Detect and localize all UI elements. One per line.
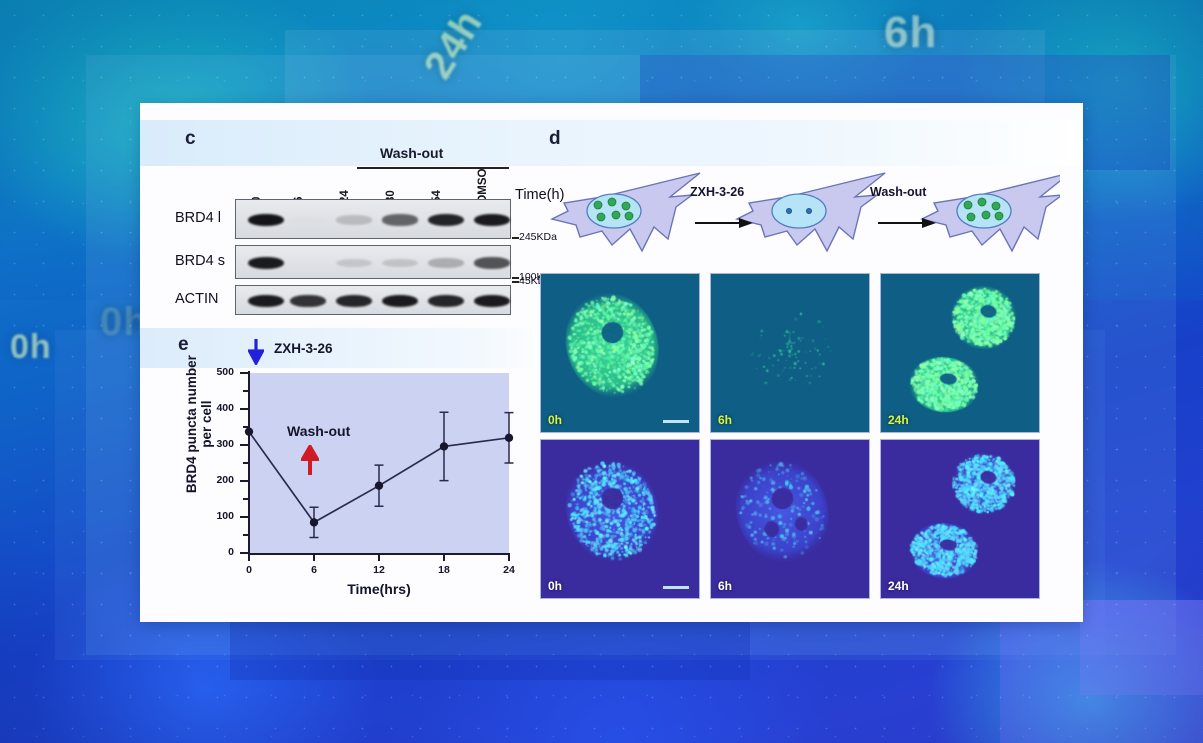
chart-x-tick-12 xyxy=(378,553,380,561)
schematic-cell-treated xyxy=(737,173,885,251)
mw-tick-1 xyxy=(512,277,519,279)
brd4-punctum xyxy=(597,213,605,221)
chart-x-tick-0 xyxy=(248,553,250,561)
mw-tick-2 xyxy=(512,281,519,283)
chart-x-tick-6 xyxy=(313,553,315,561)
blot-row-label-1: BRD4 s xyxy=(175,253,225,269)
brd4-punctum xyxy=(786,208,791,213)
blot-band xyxy=(290,295,326,307)
panel-d-microscopy: ZXH-3-26 Wash-out 0h6h24h0h6h24h xyxy=(540,133,1060,603)
blot-band xyxy=(290,216,326,223)
micrograph-image xyxy=(711,440,869,598)
figure-card: c d e Wash-out 06243054DMSO Time(h) BRD4… xyxy=(140,103,1083,622)
blot-band xyxy=(428,214,464,227)
micrograph-timepoint-label: 6h xyxy=(718,579,732,593)
blot-band xyxy=(474,214,510,227)
brd4-punctum xyxy=(608,198,616,206)
micrograph-timepoint-label: 24h xyxy=(888,579,909,593)
blot-box-0 xyxy=(235,199,511,239)
chart-x-tick-label-6: 6 xyxy=(299,564,329,576)
chart-y-tick-400 xyxy=(240,408,248,410)
chart-x-tick-24 xyxy=(508,553,510,561)
chart-plot-area xyxy=(249,373,509,553)
micrograph-green-24h: 24h xyxy=(880,273,1040,433)
brd4-punctum xyxy=(964,201,972,209)
washout-arrow-icon xyxy=(301,445,319,475)
mw-tick-0 xyxy=(512,237,519,239)
blot-band xyxy=(428,258,464,268)
micrograph-timepoint-label: 0h xyxy=(548,413,562,427)
micrograph-image xyxy=(541,274,699,432)
brd4-punctum xyxy=(982,211,990,219)
blot-band xyxy=(382,295,418,308)
cell-schematic-diagram xyxy=(540,161,1060,266)
figure-canvas: 24h 6h 0h 0h 6h c d e Wash-out 06243054D… xyxy=(0,0,1203,743)
chart-x-tick-label-24: 24 xyxy=(494,564,524,576)
chart-y-tick-0 xyxy=(240,552,248,554)
chart-y-tick-100 xyxy=(240,516,248,518)
chart-y-axis-title: BRD4 puncta numberper cell xyxy=(184,329,214,519)
chart-y-minor-tick xyxy=(243,462,248,464)
blot-band xyxy=(336,259,372,268)
micrograph-image xyxy=(541,440,699,598)
blot-box-1 xyxy=(235,245,511,279)
watermark-0h-left: 0h xyxy=(10,328,52,367)
chart-x-axis-title: Time(hrs) xyxy=(249,581,509,597)
lane-label-dmso: DMSO xyxy=(477,169,489,204)
chart-x-tick-label-12: 12 xyxy=(364,564,394,576)
blot-row-label-2: ACTIN xyxy=(175,291,219,307)
micrograph-timepoint-label: 6h xyxy=(718,413,732,427)
washout-header-label: Wash-out xyxy=(380,145,443,161)
scale-bar xyxy=(663,586,689,589)
scale-bar xyxy=(663,420,689,423)
schematic-arrow-label-washout: Wash-out xyxy=(870,185,926,199)
brd4-punctum xyxy=(612,211,620,219)
blot-band xyxy=(474,295,510,308)
chart-y-tick-300 xyxy=(240,444,248,446)
chart-y-minor-tick xyxy=(243,390,248,392)
blot-row-label-0: BRD4 l xyxy=(175,210,221,226)
panel-e-chart: 0100200300400500 06121824 BRD4 puncta nu… xyxy=(170,331,560,616)
blot-band xyxy=(248,214,284,227)
brd4-punctum xyxy=(992,202,1000,210)
micrograph-image xyxy=(881,274,1039,432)
blot-band xyxy=(336,295,372,308)
brd4-punctum xyxy=(806,208,811,213)
micrograph-purple-0h: 0h xyxy=(540,439,700,599)
micrograph-green-6h: 6h xyxy=(710,273,870,433)
micrograph-image xyxy=(881,440,1039,598)
blot-band xyxy=(382,259,418,268)
schematic-arrow-label-zxh: ZXH-3-26 xyxy=(690,185,744,199)
chart-x-tick-label-18: 18 xyxy=(429,564,459,576)
chart-x-tick-label-0: 0 xyxy=(234,564,264,576)
micrograph-timepoint-label: 24h xyxy=(888,413,909,427)
blot-band xyxy=(248,257,284,270)
micrograph-timepoint-label: 0h xyxy=(548,579,562,593)
schematic-cell-washedout xyxy=(922,173,1060,251)
washout-annotation: Wash-out xyxy=(287,423,350,439)
brd4-punctum xyxy=(967,213,975,221)
chart-y-axis xyxy=(248,371,250,555)
chart-y-axis-title-line-2: per cell xyxy=(199,329,214,519)
micrograph-purple-6h: 6h xyxy=(710,439,870,599)
blot-band xyxy=(474,257,510,269)
chart-y-axis-title-line-1: BRD4 puncta number xyxy=(184,329,199,519)
zxh-treatment-arrow-icon xyxy=(248,339,264,365)
blot-band xyxy=(248,295,284,308)
brd4-punctum xyxy=(594,201,602,209)
brd4-punctum xyxy=(625,212,633,220)
brd4-punctum xyxy=(622,202,630,210)
schematic-cell-untreated xyxy=(552,173,700,251)
chart-y-tick-label-0: 0 xyxy=(202,546,234,558)
brd4-punctum xyxy=(995,212,1003,220)
chart-x-tick-18 xyxy=(443,553,445,561)
chart-y-minor-tick xyxy=(243,498,248,500)
blot-box-2 xyxy=(235,285,511,315)
blot-band xyxy=(382,214,418,225)
micrograph-image xyxy=(711,274,869,432)
zxh-treatment-annotation: ZXH-3-26 xyxy=(274,341,333,356)
brd4-punctum xyxy=(978,198,986,206)
micrograph-purple-24h: 24h xyxy=(880,439,1040,599)
chart-y-minor-tick xyxy=(243,426,248,428)
micrograph-grid: 0h6h24h0h6h24h xyxy=(540,273,1040,605)
micrograph-green-0h: 0h xyxy=(540,273,700,433)
blot-band xyxy=(336,215,372,224)
chart-y-tick-200 xyxy=(240,480,248,482)
chart-y-tick-500 xyxy=(240,372,248,374)
cell-nucleus xyxy=(772,194,826,228)
panel-c-western-blot: Wash-out 06243054DMSO Time(h) BRD4 l245K… xyxy=(175,133,555,313)
watermark-6h-top: 6h xyxy=(884,8,937,58)
chart-y-minor-tick xyxy=(243,534,248,536)
blot-band xyxy=(428,295,464,308)
